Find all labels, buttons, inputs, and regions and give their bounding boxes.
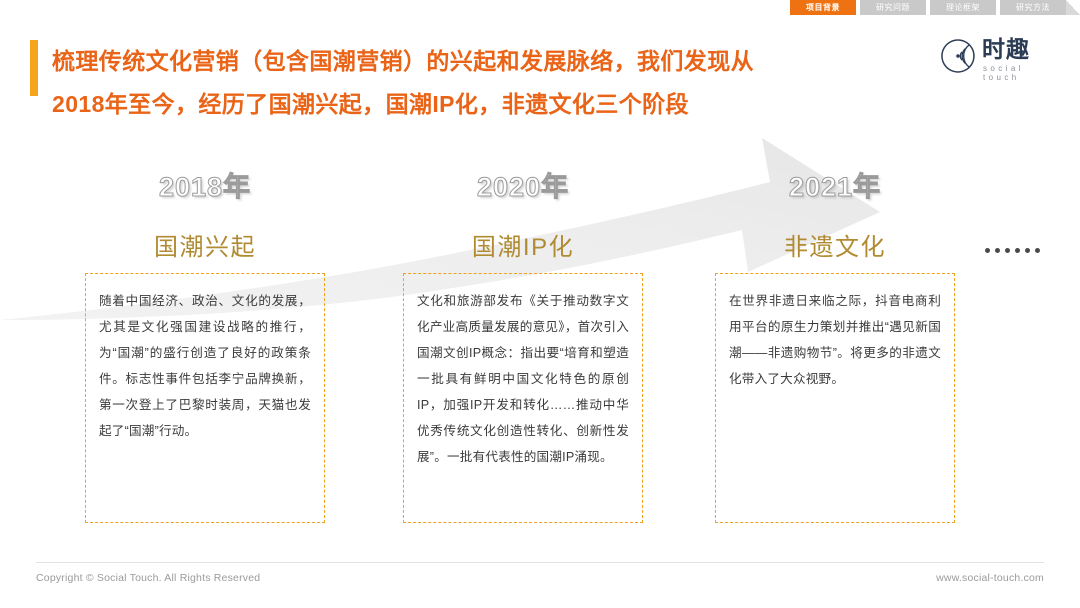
page-title: 梳理传统文化营销（包含国潮营销）的兴起和发展脉络，我们发现从 2018年至今，经… — [52, 40, 932, 126]
dot-2 — [995, 248, 1000, 253]
spiral-icon — [938, 36, 978, 76]
stage-2-card: 文化和旅游部发布《关于推动数字文化产业高质量发展的意见》，首次引入国潮文创IP概… — [403, 273, 643, 523]
stage-3-name: 非遗文化 — [690, 227, 980, 262]
page-title-line-1: 梳理传统文化营销（包含国潮营销）的兴起和发展脉络，我们发现从 — [52, 40, 932, 83]
dot-3 — [1005, 248, 1010, 253]
stage-3-year: 2021年 — [690, 165, 980, 204]
nav-corner-fold — [1066, 0, 1080, 15]
stage-1-name: 国潮兴起 — [60, 227, 350, 262]
dot-6 — [1035, 248, 1040, 253]
stage-2-body: 文化和旅游部发布《关于推动数字文化产业高质量发展的意见》，首次引入国潮文创IP概… — [417, 288, 629, 470]
stage-1-body: 随着中国经济、政治、文化的发展，尤其是文化强国建设战略的推行，为“国潮”的盛行创… — [99, 288, 311, 444]
stage-3-card: 在世界非遗日来临之际，抖音电商利用平台的原生力策划并推出“遇见新国潮——非遗购物… — [715, 273, 955, 523]
brand-logo: 时趣 social touch — [938, 34, 1058, 80]
top-navigation: 项目背景 研究问题 理论框架 研究方法 — [0, 0, 1080, 15]
stage-2-name: 国潮IP化 — [378, 227, 668, 262]
dot-1 — [985, 248, 990, 253]
stage-1-card: 随着中国经济、政治、文化的发展，尤其是文化强国建设战略的推行，为“国潮”的盛行创… — [85, 273, 325, 523]
logo-wordmark: 时趣 — [982, 36, 1030, 62]
stage-1-year: 2018年 — [60, 165, 350, 204]
tab-research-question[interactable]: 研究问题 — [860, 0, 926, 15]
tab-project-background[interactable]: 项目背景 — [790, 0, 856, 15]
dot-5 — [1025, 248, 1030, 253]
tab-research-method[interactable]: 研究方法 — [1000, 0, 1066, 15]
timeline-continuation-dots — [985, 248, 1040, 253]
footer-copyright: Copyright © Social Touch. All Rights Res… — [36, 572, 260, 584]
stage-3-body: 在世界非遗日来临之际，抖音电商利用平台的原生力策划并推出“遇见新国潮——非遗购物… — [729, 288, 941, 392]
footer-website: www.social-touch.com — [936, 572, 1044, 584]
footer-divider — [36, 562, 1044, 563]
stage-2-year: 2020年 — [378, 165, 668, 204]
dot-4 — [1015, 248, 1020, 253]
title-accent-bar — [30, 40, 38, 96]
tab-theoretical-framework[interactable]: 理论框架 — [930, 0, 996, 15]
logo-tagline: social touch — [983, 64, 1058, 82]
